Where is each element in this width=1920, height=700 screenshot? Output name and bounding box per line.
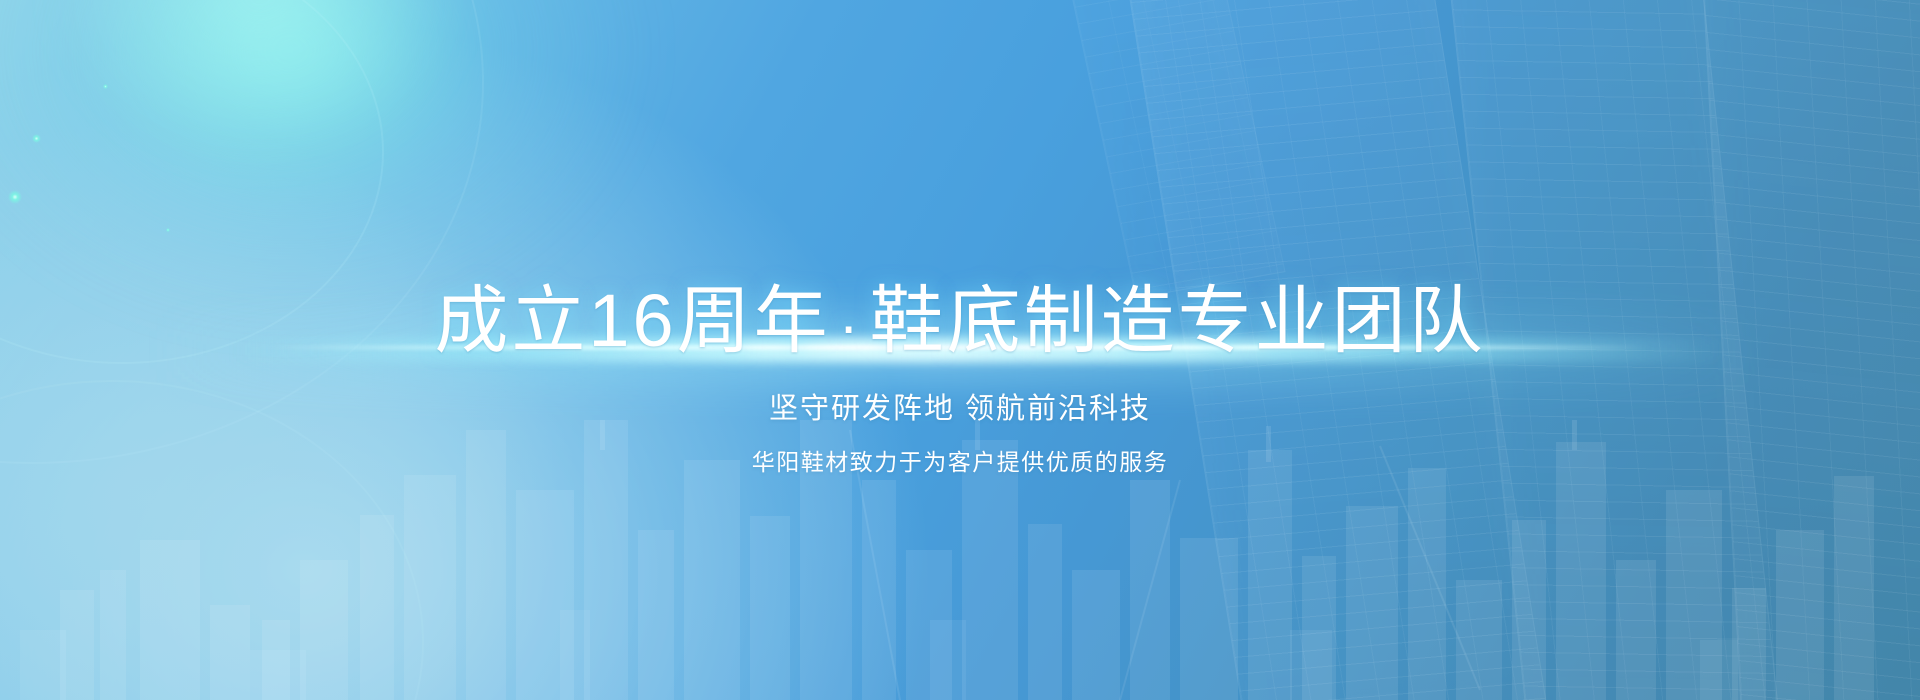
headline-suffix: 鞋底制造专业团队 — [870, 279, 1486, 362]
headline-separator-dot: · — [831, 292, 870, 359]
banner-content: 成立16周年·鞋底制造专业团队 坚守研发阵地 领航前沿科技 华阳鞋材致力于为客户… — [0, 0, 1920, 700]
headline-prefix: 成立16周年 — [434, 279, 830, 362]
hero-banner: 成立16周年·鞋底制造专业团队 坚守研发阵地 领航前沿科技 华阳鞋材致力于为客户… — [0, 0, 1920, 700]
banner-subtitle-secondary: 华阳鞋材致力于为客户提供优质的服务 — [752, 449, 1169, 477]
banner-subtitle-primary: 坚守研发阵地 领航前沿科技 — [769, 392, 1151, 427]
banner-headline: 成立16周年·鞋底制造专业团队 — [434, 284, 1485, 358]
